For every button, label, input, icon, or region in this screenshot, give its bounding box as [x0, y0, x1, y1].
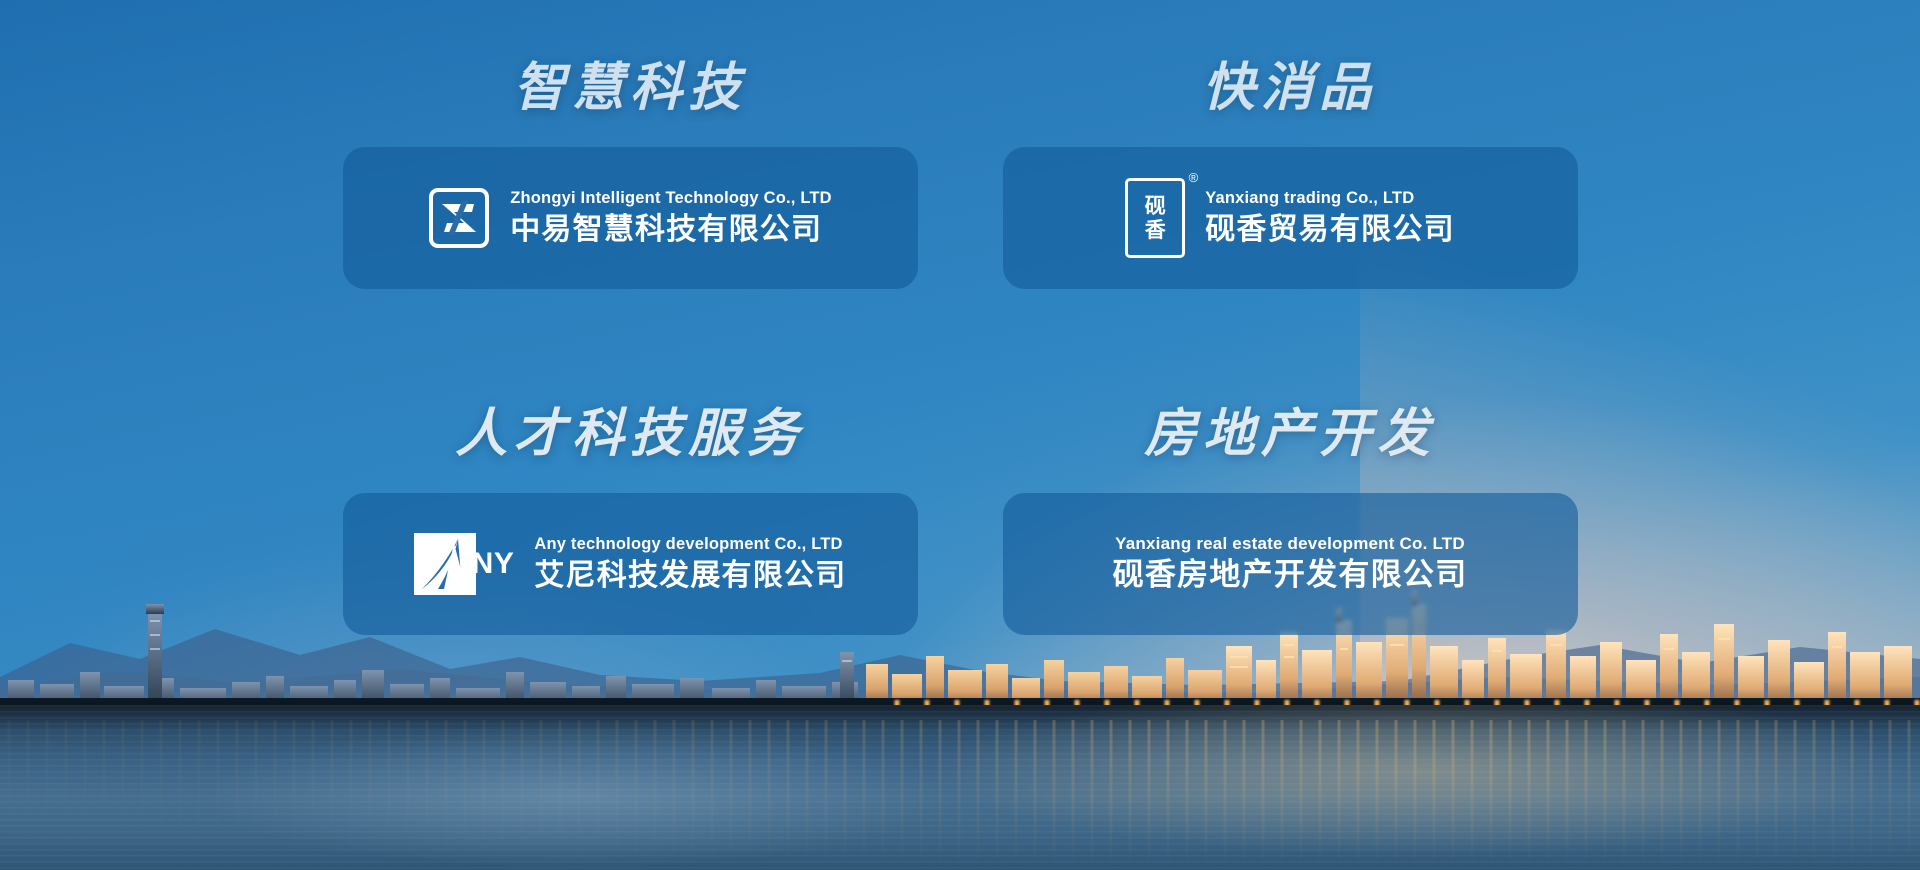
company-name-en: Yanxiang real estate development Co. LTD [1115, 533, 1465, 554]
segment-heading: 房地产开发 [1144, 406, 1435, 463]
segments-grid: 智慧科技 Zhongyi Intelligent Technology Co.,… [0, 0, 1920, 870]
company-name-en: Zhongyi Intelligent Technology Co., LTD [510, 188, 832, 209]
any-wordmark: NY [472, 547, 515, 581]
page-root: 智慧科技 Zhongyi Intelligent Technology Co.,… [0, 0, 1920, 870]
company-card-yanxiang-real-estate[interactable]: Yanxiang real estate development Co. LTD… [1003, 493, 1578, 635]
company-names: Yanxiang trading Co., LTD 砚香贸易有限公司 [1205, 188, 1455, 248]
registered-trademark-icon: ® [1189, 171, 1199, 184]
yanxiang-seal-logo: 砚 香 ® [1125, 178, 1185, 258]
company-card-zhongyi[interactable]: Zhongyi Intelligent Technology Co., LTD … [343, 147, 918, 289]
company-names: Any technology development Co., LTD 艾尼科技… [534, 534, 846, 594]
any-technology-logo: NY [414, 533, 515, 595]
company-name-en: Yanxiang trading Co., LTD [1205, 188, 1455, 209]
segment-heading: 智慧科技 [514, 60, 747, 117]
company-name-cn: 中易智慧科技有限公司 [510, 211, 832, 249]
seal-stamp: 砚 香 [1125, 178, 1185, 258]
company-name-en: Any technology development Co., LTD [534, 534, 846, 555]
seal-char-2: 香 [1145, 220, 1166, 241]
company-card-any-technology[interactable]: NY Any technology development Co., LTD 艾… [343, 493, 918, 635]
segment-talent-tech-services: 人才科技服务 [300, 390, 960, 720]
company-card-yanxiang-trading[interactable]: 砚 香 ® Yanxiang trading Co., LTD 砚香贸易有限公司 [1003, 147, 1578, 289]
segment-heading: 人才科技服务 [455, 406, 804, 463]
zhongyi-z-mark-logo [428, 187, 490, 249]
company-names: Yanxiang real estate development Co. LTD… [1113, 533, 1468, 595]
company-names: Zhongyi Intelligent Technology Co., LTD … [510, 188, 832, 248]
company-name-cn: 砚香房地产开发有限公司 [1113, 556, 1468, 595]
segment-real-estate-development: 房地产开发 Yanxiang real estate development C… [960, 390, 1620, 720]
seal-char-1: 砚 [1145, 196, 1166, 217]
segment-fmcg: 快消品 砚 香 ® Yanxiang trading Co., LTD 砚香贸易… [960, 60, 1620, 390]
segment-smart-technology: 智慧科技 Zhongyi Intelligent Technology Co.,… [300, 60, 960, 390]
company-name-cn: 艾尼科技发展有限公司 [534, 557, 846, 595]
company-name-cn: 砚香贸易有限公司 [1205, 211, 1455, 249]
segment-heading: 快消品 [1203, 60, 1378, 117]
any-square-mark [414, 533, 476, 595]
